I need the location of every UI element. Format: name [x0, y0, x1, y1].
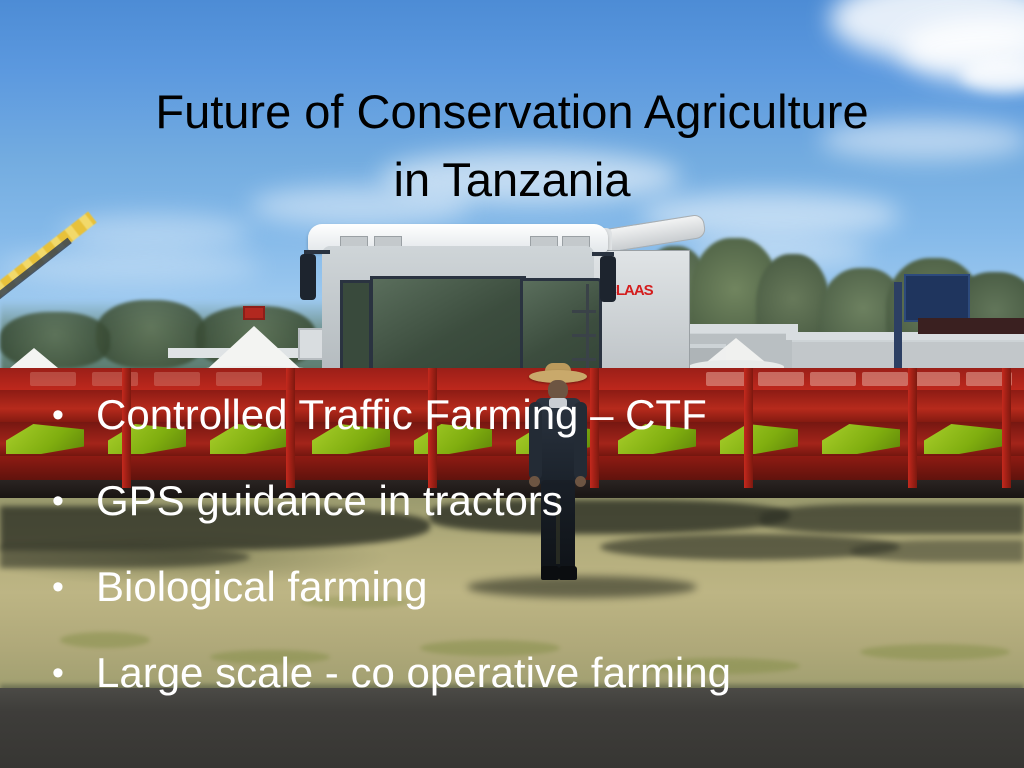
list-item: • Large scale - co operative farming	[40, 650, 940, 736]
bullet-item-label: Biological farming	[96, 564, 940, 610]
list-item: • Controlled Traffic Farming – CTF	[40, 392, 940, 478]
slide-text-layer: Future of Conservation Agriculture in Ta…	[0, 0, 1024, 768]
bullet-item-label: Large scale - co operative farming	[96, 650, 940, 696]
slide-bullet-list: • Controlled Traffic Farming – CTF • GPS…	[40, 392, 940, 736]
list-item: • Biological farming	[40, 564, 940, 650]
title-line-1: Future of Conservation Agriculture	[0, 78, 1024, 146]
bullet-item-label: Controlled Traffic Farming – CTF	[96, 392, 940, 438]
bullet-point-icon: •	[40, 478, 96, 524]
bullet-point-icon: •	[40, 564, 96, 610]
bullet-point-icon: •	[40, 392, 96, 438]
slide-title: Future of Conservation Agriculture in Ta…	[0, 78, 1024, 214]
title-line-2: in Tanzania	[0, 146, 1024, 214]
bullet-point-icon: •	[40, 650, 96, 696]
presentation-slide: CLAAS CLAAS	[0, 0, 1024, 768]
list-item: • GPS guidance in tractors	[40, 478, 940, 564]
bullet-item-label: GPS guidance in tractors	[96, 478, 940, 524]
